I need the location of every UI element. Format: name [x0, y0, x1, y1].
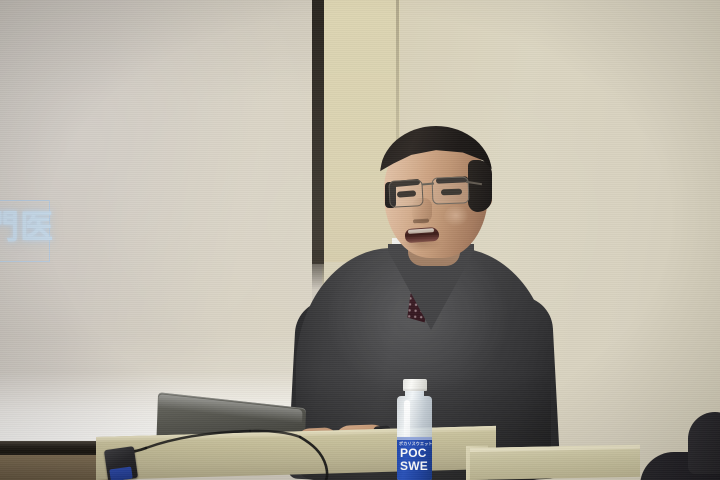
speaker-hair-side	[468, 160, 492, 212]
bottle-brand-line-2: SWE	[400, 460, 432, 472]
bottle-label-top-stripe	[397, 437, 432, 440]
speaker-chin-shading	[398, 240, 446, 256]
bottle-cap[interactable]	[403, 379, 427, 391]
bottle-brand-line-1: POC	[400, 447, 432, 459]
audience-member-head	[688, 412, 720, 474]
speaker-cheek-highlight	[444, 205, 474, 231]
photo-scene: 門医 ポ	[0, 0, 720, 480]
power-adapter-accent	[109, 467, 132, 480]
glasses-lens-right	[432, 176, 470, 204]
slide-text: 門医	[0, 205, 56, 249]
speaker-nostrils	[413, 219, 429, 224]
